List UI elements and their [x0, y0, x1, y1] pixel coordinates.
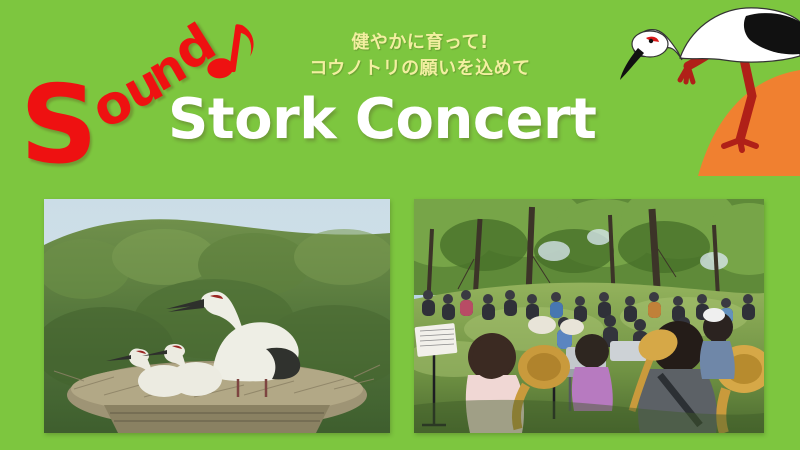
poster-header: S o u n d 健やかに育って! コウノトリの願いを込めて Stork Co… [0, 0, 800, 180]
music-note-icon [202, 12, 267, 87]
subtitle-block: 健やかに育って! コウノトリの願いを込めて [270, 30, 570, 82]
subtitle-line-1: 健やかに育って! [270, 30, 570, 56]
stork-bird-icon [620, 0, 800, 176]
stork-eye [649, 39, 653, 43]
white-cap [703, 308, 725, 322]
subtitle-line-2: コウノトリの願いを込めて [270, 56, 570, 82]
photo-strip [0, 180, 800, 450]
stork-beak [620, 48, 644, 80]
photo-outdoor-concert [414, 199, 764, 433]
stork-concert-poster: S o u n d 健やかに育って! コウノトリの願いを込めて Stork Co… [0, 0, 800, 450]
page-title: Stork Concert [168, 92, 596, 148]
photo-storks-on-nest [44, 199, 390, 433]
